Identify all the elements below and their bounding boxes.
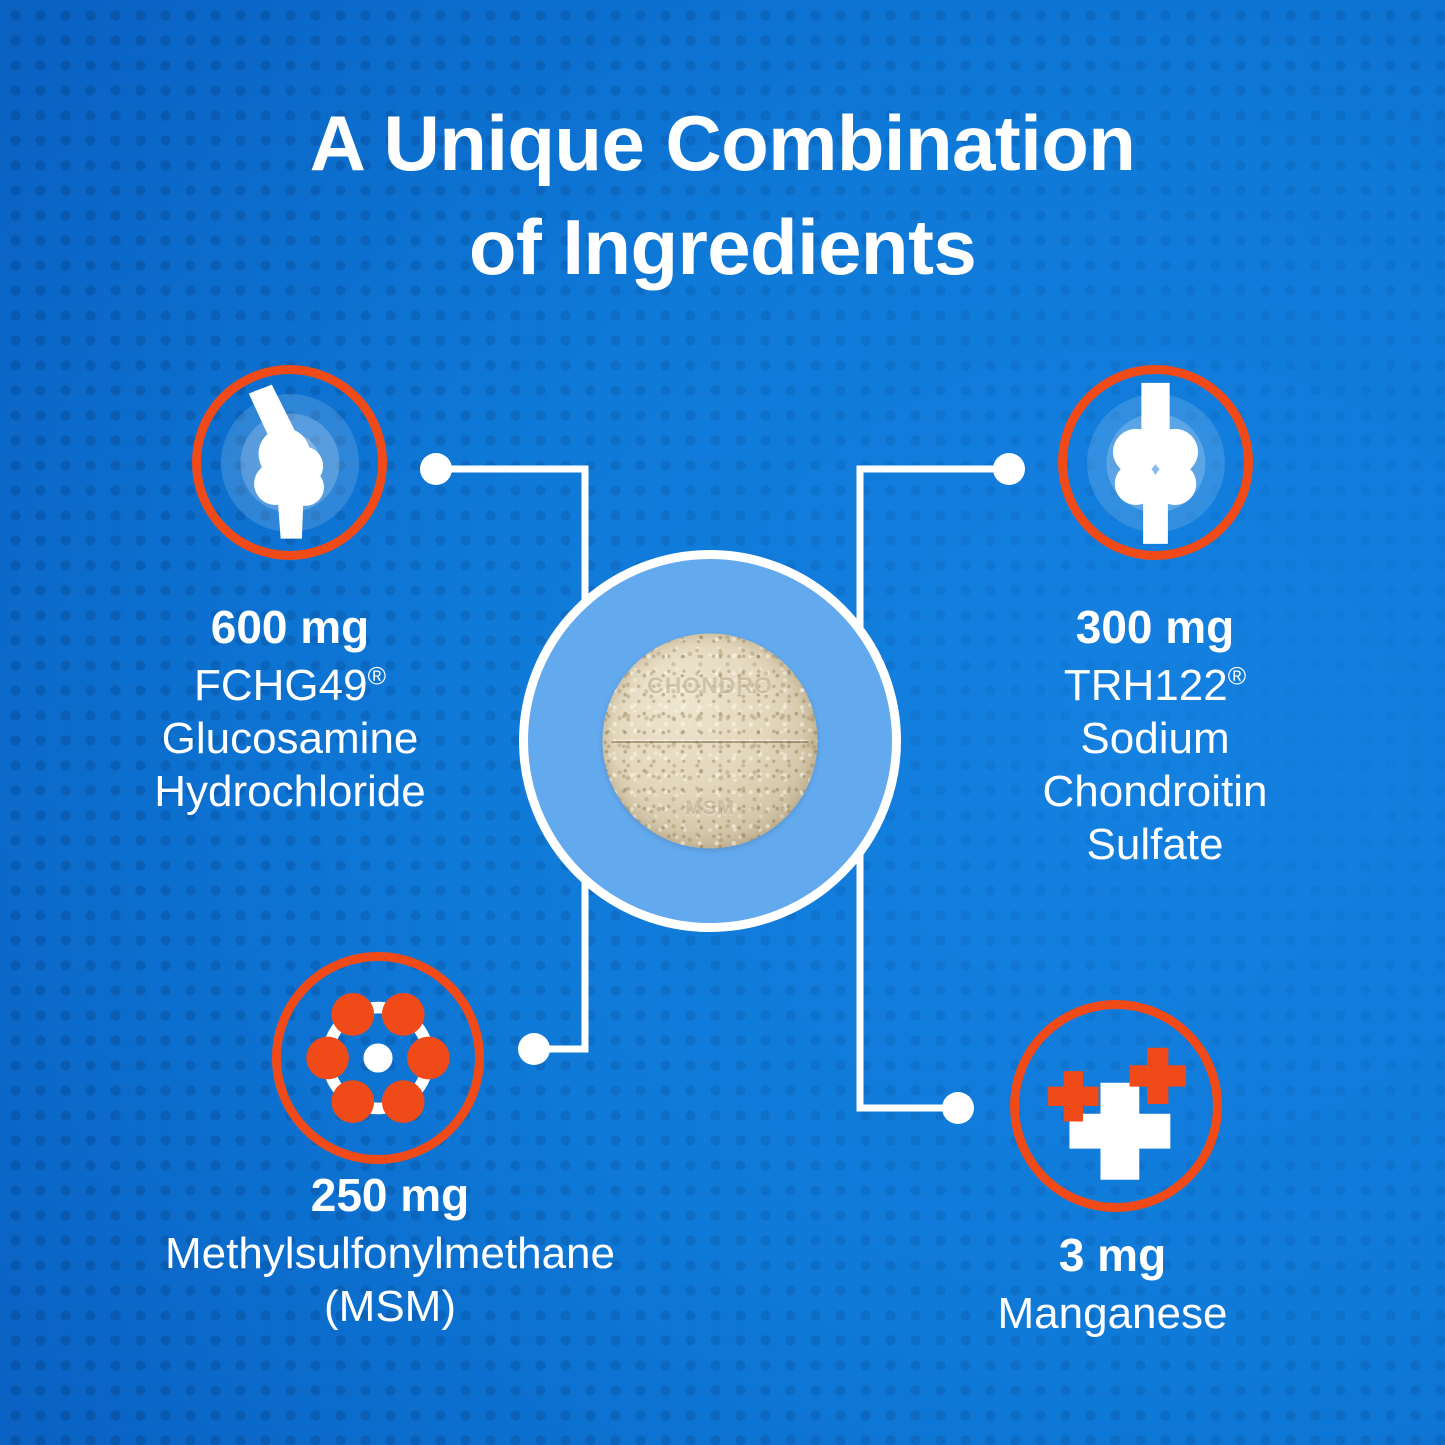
badge-inner-manganese [1019, 1009, 1213, 1203]
label-chondroitin: 300 mg TRH122® Sodium Chondroitin Sulfat… [905, 600, 1405, 871]
desc-manganese-line2: Manganese [905, 1288, 1320, 1341]
desc-msm-line3: (MSM) [60, 1281, 720, 1334]
connector-dot-manganese [942, 1092, 974, 1124]
desc-chondroitin-line3: Chondroitin [905, 766, 1405, 819]
desc-msm-line2: Methylsulfonylmethane [60, 1228, 720, 1281]
badge-glucosamine[interactable] [192, 365, 387, 560]
brandcode-chondroitin: TRH122 [1064, 661, 1228, 710]
registered-mark-glucosamine: ® [368, 663, 386, 691]
brandcode-glucosamine: FCHG49 [194, 661, 368, 710]
badge-chondroitin[interactable] [1058, 365, 1253, 560]
desc-glucosamine-line1: FCHG49® [40, 660, 540, 713]
knee-joint-icon [201, 374, 378, 551]
label-msm: 250 mg Methylsulfonylmethane (MSM) [60, 1168, 720, 1334]
badge-msm[interactable] [272, 952, 484, 1164]
badge-inner-msm [281, 961, 475, 1155]
medical-cross-icon [1019, 1009, 1213, 1203]
connector-dot-chondroitin [993, 453, 1025, 485]
desc-chondroitin-line2: Sodium [905, 713, 1405, 766]
center-tablet-node: CHONDRO MSM [519, 550, 901, 932]
tablet-emboss-text-top: CHONDRO [603, 672, 818, 699]
tablet-emboss-text-bottom: MSM [603, 798, 818, 821]
amount-manganese: 3 mg [905, 1228, 1320, 1283]
tablet-score-line [611, 740, 809, 743]
desc-glucosamine-line2: Glucosamine [40, 713, 540, 766]
badge-manganese[interactable] [1010, 1000, 1222, 1212]
ingredients-infographic: A Unique Combination of Ingredients CHON… [0, 0, 1445, 1445]
desc-chondroitin-line1: TRH122® [905, 660, 1405, 713]
desc-glucosamine-line3: Hydrochloride [40, 766, 540, 819]
amount-chondroitin: 300 mg [905, 600, 1405, 655]
label-glucosamine: 600 mg FCHG49® Glucosamine Hydrochloride [40, 600, 540, 819]
badge-inner-glucosamine [201, 374, 378, 551]
amount-msm: 250 mg [60, 1168, 720, 1223]
connector-dot-msm [518, 1033, 550, 1065]
amount-glucosamine: 600 mg [40, 600, 540, 655]
label-manganese: 3 mg Manganese [905, 1228, 1320, 1341]
tablet-image: CHONDRO MSM [603, 634, 818, 849]
registered-mark-chondroitin: ® [1228, 663, 1246, 691]
connector-dot-glucosamine [420, 453, 452, 485]
bone-joint-icon [1067, 374, 1244, 551]
desc-chondroitin-line4: Sulfate [905, 819, 1405, 872]
badge-inner-chondroitin [1067, 374, 1244, 551]
molecule-icon [281, 961, 475, 1155]
